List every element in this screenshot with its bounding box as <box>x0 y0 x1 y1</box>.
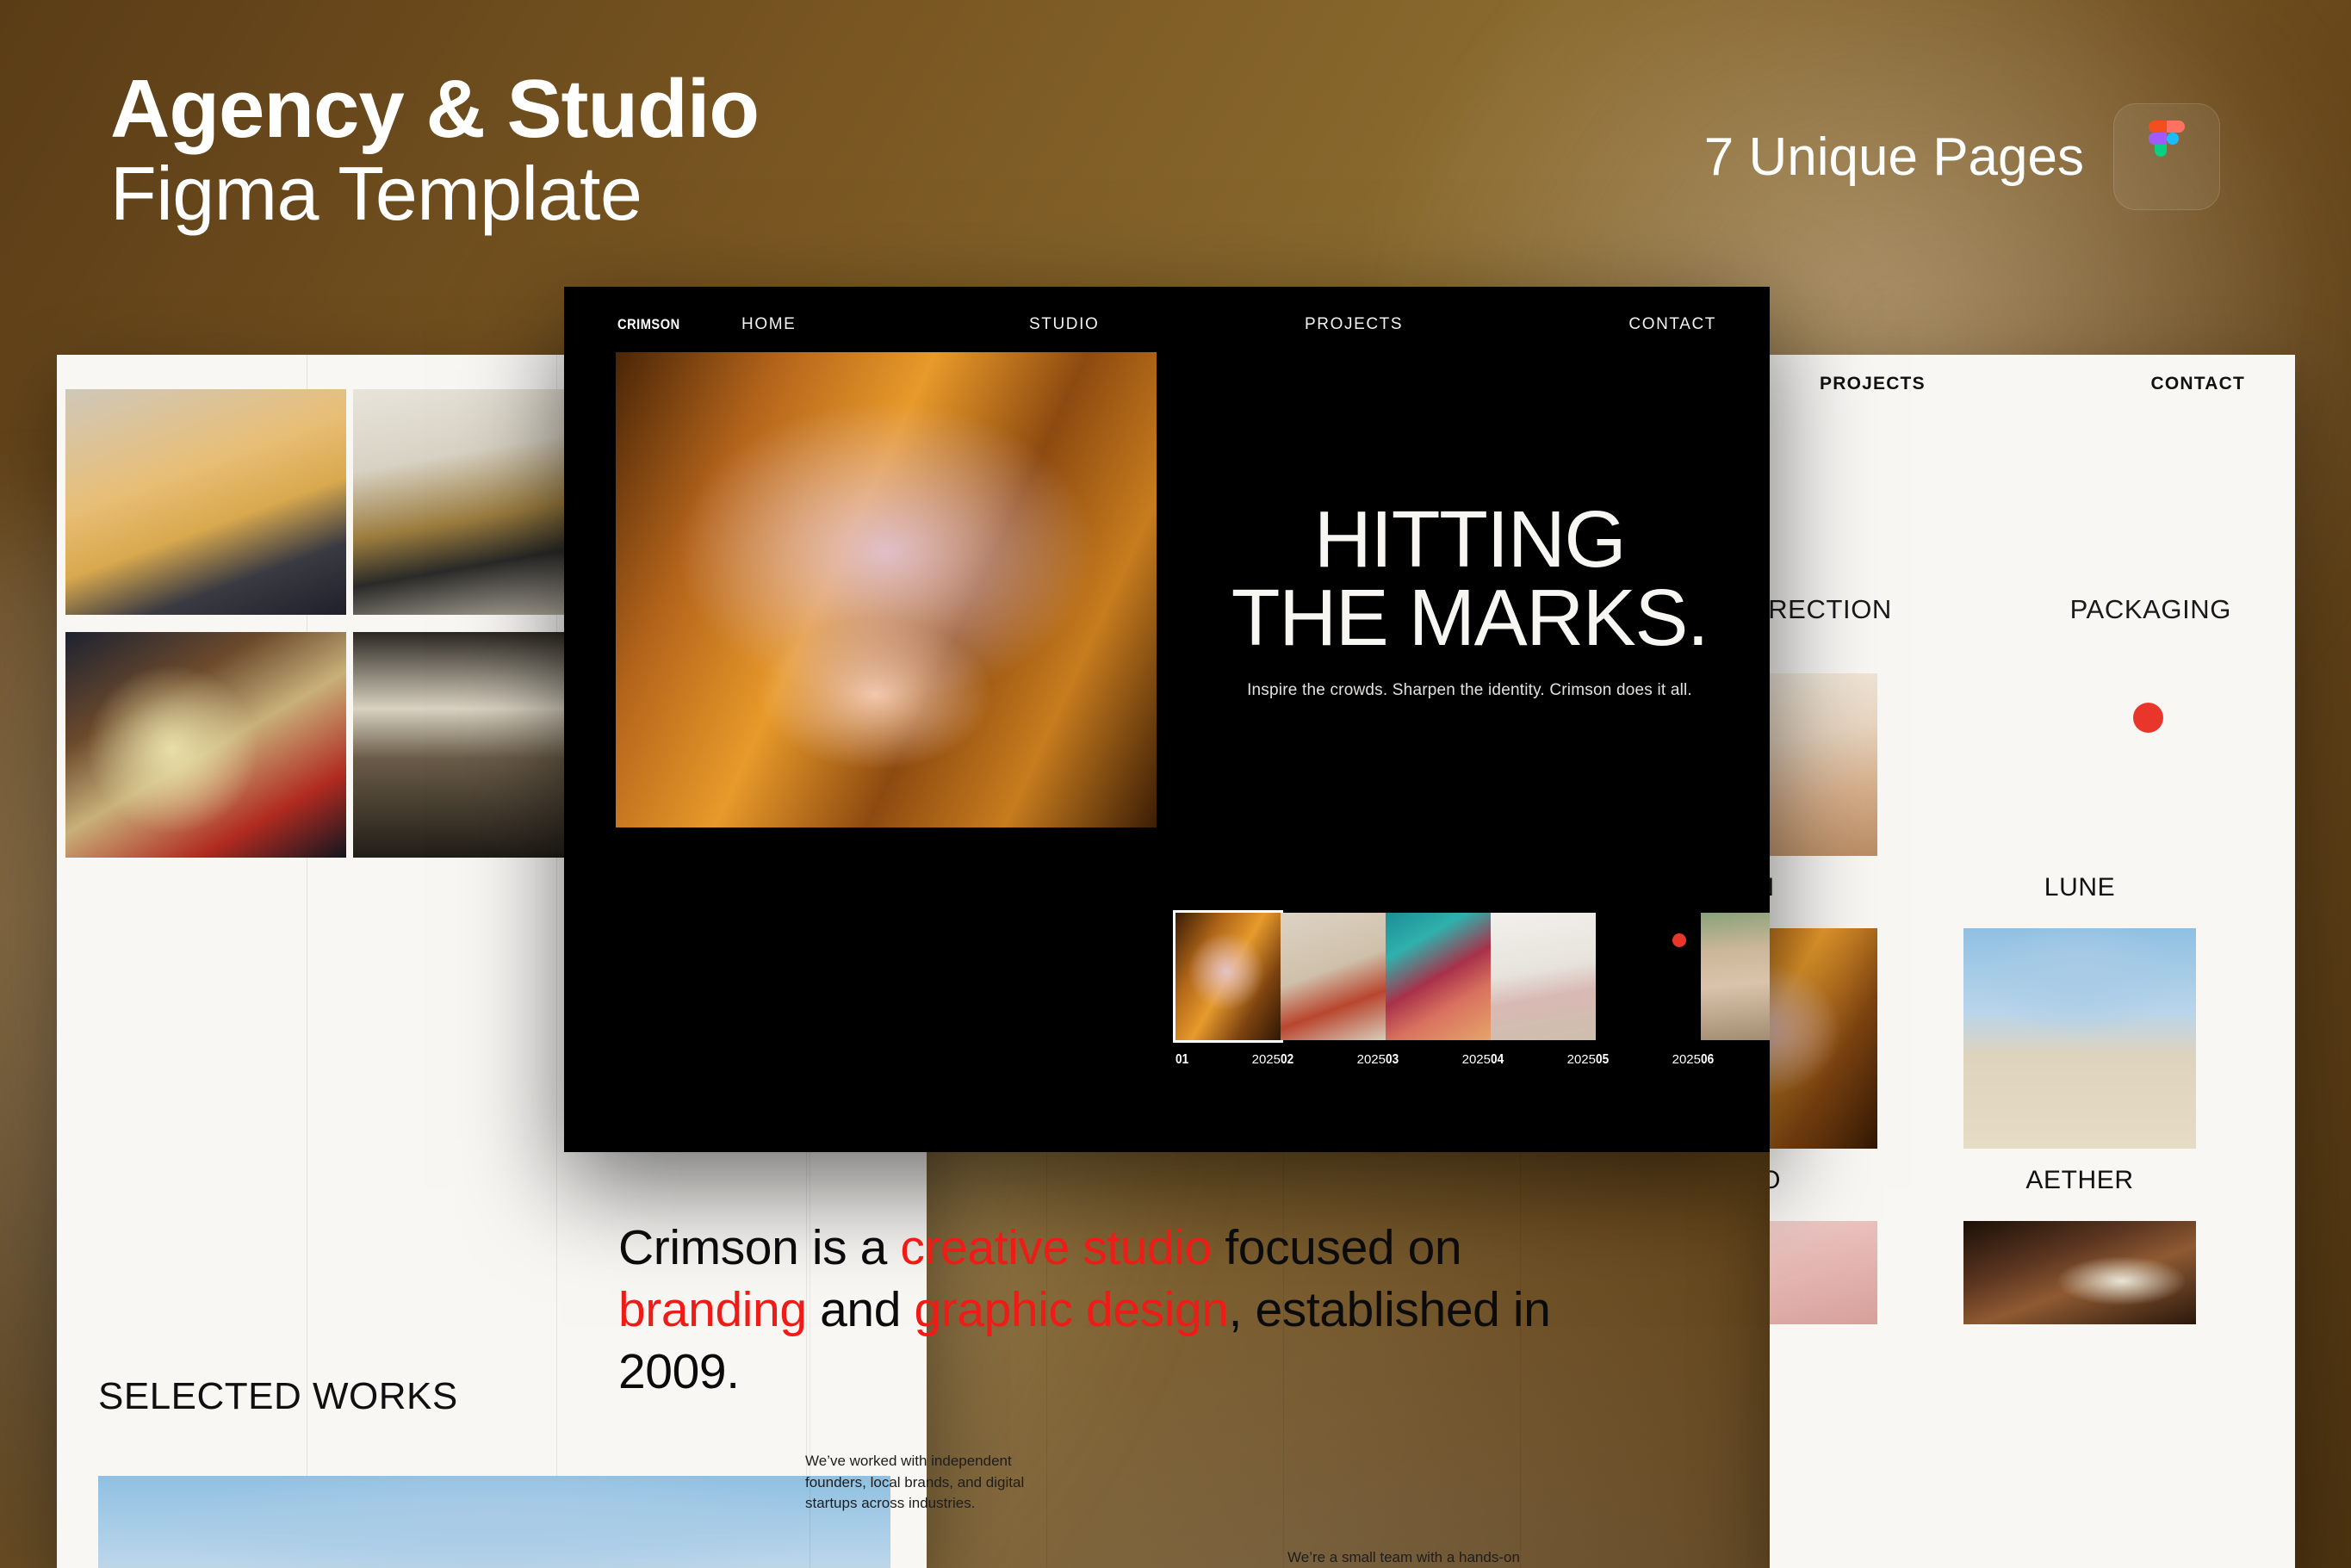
headline-part-highlight: creative studio <box>900 1220 1212 1275</box>
thumbnail-index: 06 <box>1701 1052 1714 1068</box>
hero-copy: HITTING THE MARKS. Inspire the crowds. S… <box>1206 500 1734 700</box>
thumbnail-meta: 05 2025 <box>1596 1052 1701 1068</box>
thumbnail-image <box>1386 913 1491 1040</box>
right-panel-categories: DIRECTION PACKAGING <box>1770 594 2295 625</box>
project-name: RO <box>1770 1166 1877 1195</box>
category-packaging[interactable]: PACKAGING <box>2070 594 2231 625</box>
right-panel-nav: PROJECTS CONTACT <box>1770 374 2295 394</box>
project-thumbnail <box>1963 928 2196 1149</box>
category-direction[interactable]: DIRECTION <box>1770 594 1892 625</box>
thumbnail-item[interactable]: 01 2025 <box>1175 913 1281 1068</box>
intro-paragraph-2: We’re a small team with a hands-on <box>1287 1547 1537 1568</box>
thumbnail-item[interactable]: 03 2025 <box>1386 913 1491 1068</box>
studio-intro-copy: Crimson is a creative studio focused on … <box>618 1218 1635 1403</box>
thumbnail-item[interactable]: 02 2025 <box>1281 913 1386 1068</box>
thumbnail-image <box>1491 913 1596 1040</box>
selected-works-heading: SELECTED WORKS <box>98 1375 458 1418</box>
project-card[interactable]: AETHER <box>1963 928 2196 1195</box>
studio-intro-headline: Crimson is a creative studio focused on … <box>618 1218 1635 1403</box>
project-card[interactable] <box>1963 1221 2196 1324</box>
project-name: IN <box>1770 873 1877 902</box>
nav-item-projects[interactable]: PROJECTS <box>1305 315 1403 334</box>
figma-logo-icon <box>2113 103 2220 210</box>
headline-part: focused on <box>1212 1220 1461 1275</box>
nav-item-projects[interactable]: PROJECTS <box>1820 374 1926 394</box>
thumbnail-year: 2025 <box>1462 1052 1491 1068</box>
thumbnail-year: 2025 <box>1567 1052 1596 1068</box>
thumbnail-meta: 04 2025 <box>1491 1052 1596 1068</box>
hero-image <box>616 352 1157 827</box>
project-card[interactable]: RO <box>1770 928 1877 1195</box>
dark-panel-nav: CRIMSON HOME STUDIO PROJECTS CONTACT <box>564 307 1770 342</box>
hero-subtitle: Inspire the crowds. Sharpen the identity… <box>1206 681 1734 700</box>
nav-item-contact[interactable]: CONTACT <box>1628 315 1716 334</box>
thumbnail-item[interactable]: 06 2025 <box>1701 913 1770 1068</box>
thumbnail-image <box>1175 913 1281 1040</box>
grid-image <box>65 389 346 615</box>
headline-part: Crimson is a <box>618 1220 900 1275</box>
thumbnail-image <box>1281 913 1386 1040</box>
thumbnail-index: 04 <box>1491 1052 1504 1068</box>
thumbnail-year: 2025 <box>1672 1052 1701 1068</box>
thumbnail-meta: 01 2025 <box>1175 1052 1281 1068</box>
headline-part-highlight: branding <box>618 1282 807 1337</box>
thumbnail-image <box>1596 913 1701 1040</box>
thumbnail-image <box>1701 913 1770 1040</box>
project-thumbnail <box>1963 1221 2196 1324</box>
hero-heading: HITTING THE MARKS. <box>1206 500 1734 657</box>
poster-title: Agency & Studio Figma Template <box>110 67 759 236</box>
hero-heading-line1: HITTING <box>1314 494 1625 584</box>
thumbnail-meta: 02 2025 <box>1281 1052 1386 1068</box>
hero-heading-line2: THE MARKS. <box>1231 573 1708 662</box>
feature-image-couple <box>98 1476 890 1568</box>
project-name: AETHER <box>1963 1166 2196 1195</box>
grid-image <box>65 632 346 858</box>
hero-thumbnail-strip: 01 2025 02 2025 03 2025 04 2025 <box>1175 913 1770 1068</box>
thumbnail-index: 01 <box>1175 1052 1188 1068</box>
project-card[interactable] <box>1770 1221 1877 1324</box>
poster-title-line2: Figma Template <box>110 152 759 237</box>
home-page-preview[interactable]: CRIMSON HOME STUDIO PROJECTS CONTACT HIT… <box>564 287 1770 1152</box>
thumbnail-item[interactable]: 04 2025 <box>1491 913 1596 1068</box>
nav-item-home[interactable]: HOME <box>741 315 796 334</box>
project-card[interactable]: LUNE <box>1963 673 2196 902</box>
intro-paragraph-1: We’ve worked with independent founders, … <box>805 1451 1055 1515</box>
project-thumbnail <box>1963 673 2196 856</box>
project-name: LUNE <box>1963 873 2196 902</box>
project-thumbnail <box>1770 673 1877 856</box>
nav-item-studio[interactable]: STUDIO <box>1029 315 1099 334</box>
thumbnail-meta: 03 2025 <box>1386 1052 1491 1068</box>
project-thumbnail <box>1770 928 1877 1149</box>
poster-title-line1: Agency & Studio <box>110 67 759 152</box>
nav-item-contact[interactable]: CONTACT <box>2151 374 2246 394</box>
project-thumbnail <box>1770 1221 1877 1324</box>
thumbnail-index: 02 <box>1281 1052 1293 1068</box>
headline-part-highlight: graphic design <box>914 1282 1228 1337</box>
headline-part: and <box>807 1282 915 1337</box>
thumbnail-year: 2025 <box>1357 1052 1386 1068</box>
right-page-preview[interactable]: PROJECTS CONTACT DIRECTION PACKAGING IN … <box>1770 355 2295 1568</box>
project-grid: IN LUNE RO AETHER <box>1770 673 2295 1324</box>
thumbnail-year: 2025 <box>1252 1052 1281 1068</box>
thumbnail-meta: 06 2025 <box>1701 1052 1770 1068</box>
pages-count-label: 7 Unique Pages <box>1704 127 2084 188</box>
pages-badge: 7 Unique Pages <box>1704 103 2220 210</box>
crimson-logo[interactable]: CRIMSON <box>617 316 680 333</box>
thumbnail-index: 05 <box>1596 1052 1609 1068</box>
thumbnail-index: 03 <box>1386 1052 1399 1068</box>
project-card[interactable]: IN <box>1770 673 1877 902</box>
thumbnail-item[interactable]: 05 2025 <box>1596 913 1701 1068</box>
